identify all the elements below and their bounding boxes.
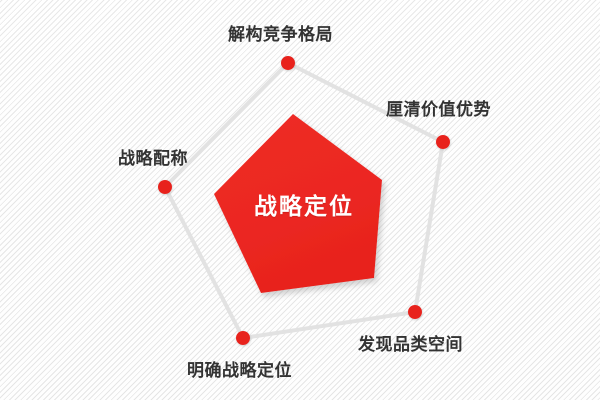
- axis-label-lower-right: 发现品类空间: [358, 336, 463, 353]
- vertex-dot-left[interactable]: [158, 180, 172, 194]
- axis-label-bottom: 明确战略定位: [187, 362, 292, 379]
- axis-label-upper-right: 厘清价值优势: [386, 101, 491, 118]
- diagram-canvas: 解构竞争格局 厘清价值优势 发现品类空间 明确战略定位 战略配称 战略定位: [0, 0, 600, 400]
- vertex-dot-bottom[interactable]: [236, 331, 250, 345]
- vertex-dot-lower-right[interactable]: [408, 305, 422, 319]
- axis-label-left: 战略配称: [118, 150, 188, 167]
- vertex-dot-upper-right[interactable]: [436, 135, 450, 149]
- vertex-dot-top[interactable]: [281, 56, 295, 70]
- axis-label-top: 解构竞争格局: [228, 26, 333, 43]
- center-title: 战略定位: [254, 195, 354, 218]
